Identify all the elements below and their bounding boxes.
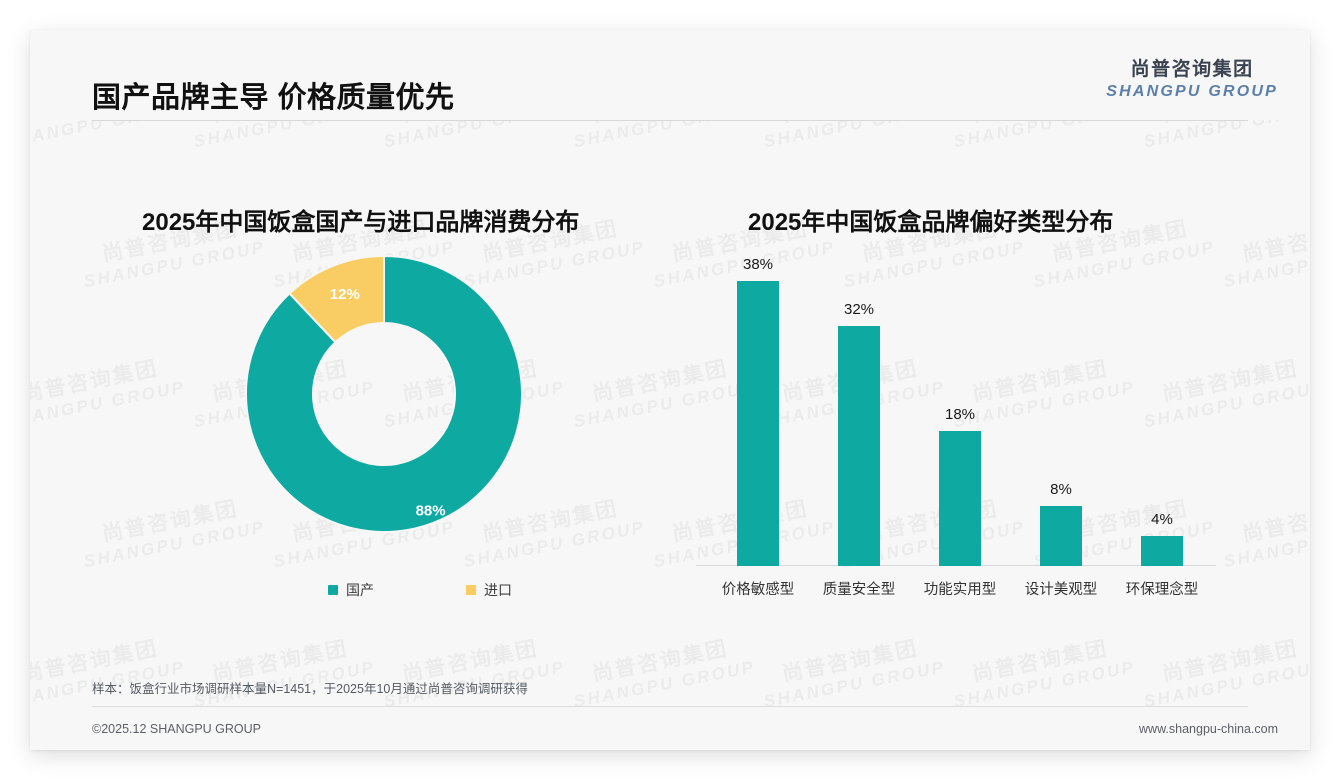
legend-label-domestic: 国产 (346, 580, 374, 600)
bar-column[interactable]: 8%设计美观型 (1011, 506, 1111, 566)
donut-chart: 88% 12% (244, 254, 524, 534)
legend-label-imported: 进口 (484, 580, 512, 600)
bar-value-label: 8% (1011, 481, 1111, 498)
brand-logo: 尚普咨询集团 SHANGPU GROUP (1106, 60, 1278, 100)
donut-label-imported: 12% (330, 286, 360, 303)
bar-category-label: 价格敏感型 (704, 566, 812, 599)
donut-legend: 国产 进口 (244, 580, 544, 600)
bar-rect[interactable] (737, 281, 779, 566)
footer-website[interactable]: www.shangpu-china.com (1139, 722, 1278, 736)
legend-item-imported[interactable]: 进口 (466, 580, 512, 600)
bar-chart: 38%价格敏感型32%质量安全型18%功能实用型8%设计美观型4%环保理念型 (690, 230, 1270, 620)
bar-value-label: 32% (809, 301, 909, 318)
donut-svg: 88% 12% (244, 254, 524, 534)
bar-value-label: 18% (910, 406, 1010, 423)
logo-english-text: SHANGPU GROUP (1106, 84, 1278, 100)
screenshot-root: 尚普咨询集团SHANGPU GROUP尚普咨询集团SHANGPU GROUP尚普… (0, 0, 1340, 780)
page-title: 国产品牌主导 价格质量优先 (92, 74, 455, 116)
bar-column[interactable]: 18%功能实用型 (910, 431, 1010, 566)
bar-column[interactable]: 32%质量安全型 (809, 326, 909, 566)
slide-footer: ©2025.12 SHANGPU GROUP www.shangpu-china… (30, 718, 1310, 750)
bar-value-label: 4% (1112, 511, 1212, 528)
bar-category-label: 质量安全型 (805, 566, 913, 599)
slide-header: 国产品牌主导 价格质量优先 尚普咨询集团 SHANGPU GROUP (30, 30, 1310, 120)
bar-value-label: 38% (708, 256, 808, 273)
bar-column[interactable]: 38%价格敏感型 (708, 281, 808, 566)
bar-category-label: 功能实用型 (906, 566, 1014, 599)
chart-panel-donut: 2025年中国饭盒国产与进口品牌消费分布 88% 12% 国产 (76, 120, 676, 665)
source-note: 样本：饭盒行业市场调研样本量N=1451，于2025年10月通过尚普咨询调研获得 (92, 678, 1248, 707)
bar-rect[interactable] (1040, 506, 1082, 566)
bar-rect[interactable] (1141, 536, 1183, 566)
logo-chinese-text: 尚普咨询集团 (1106, 60, 1278, 79)
slide-card: 尚普咨询集团SHANGPU GROUP尚普咨询集团SHANGPU GROUP尚普… (30, 30, 1310, 750)
bar-column[interactable]: 4%环保理念型 (1112, 536, 1212, 566)
legend-swatch-icon (328, 585, 338, 595)
legend-item-domestic[interactable]: 国产 (328, 580, 374, 600)
donut-label-domestic: 88% (416, 503, 446, 520)
bar-category-label: 环保理念型 (1108, 566, 1216, 599)
charts-region: 2025年中国饭盒国产与进口品牌消费分布 88% 12% 国产 (30, 120, 1310, 665)
donut-chart-title: 2025年中国饭盒国产与进口品牌消费分布 (142, 202, 579, 237)
bar-rect[interactable] (838, 326, 880, 566)
bar-rect[interactable] (939, 431, 981, 566)
bar-category-label: 设计美观型 (1007, 566, 1115, 599)
legend-swatch-icon (466, 585, 476, 595)
chart-panel-bar: 2025年中国饭盒品牌偏好类型分布 38%价格敏感型32%质量安全型18%功能实… (690, 120, 1270, 665)
footer-copyright: ©2025.12 SHANGPU GROUP (92, 722, 261, 736)
